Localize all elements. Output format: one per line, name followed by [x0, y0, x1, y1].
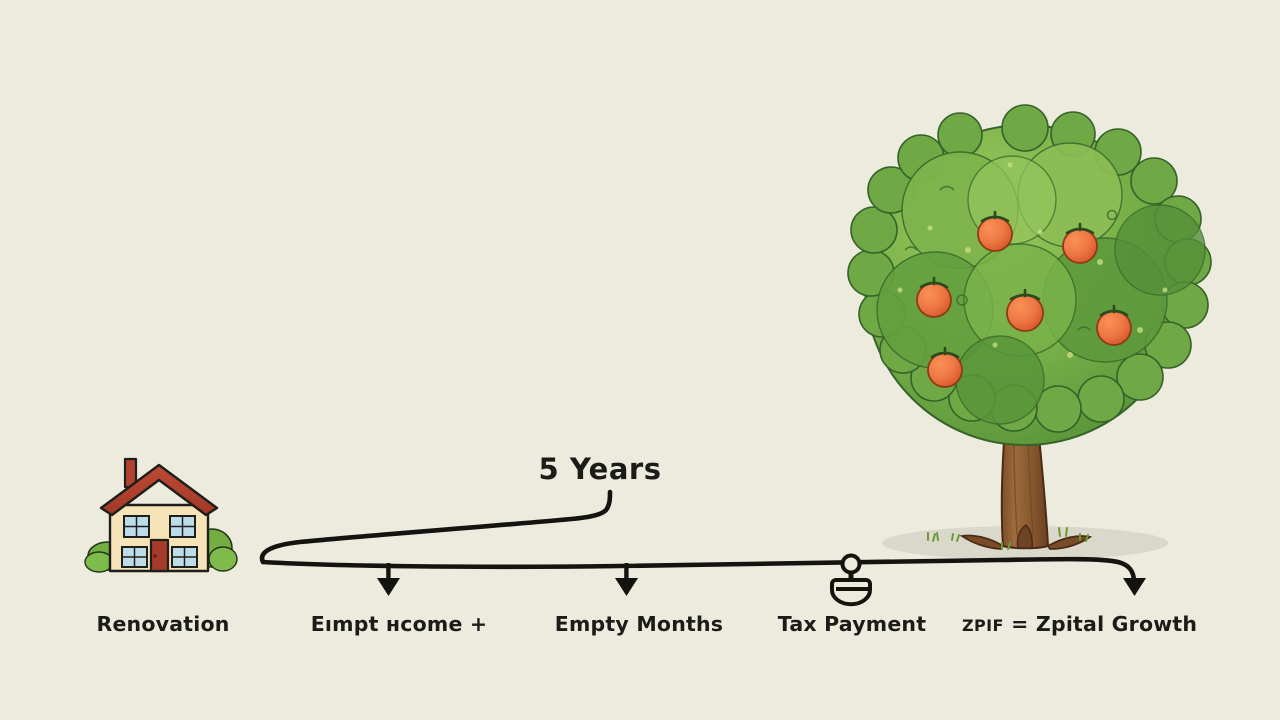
- arrow-end: [1123, 578, 1146, 596]
- tree-canopy: [848, 105, 1211, 445]
- stage-label-tax-payment: Tax Payment: [778, 612, 926, 636]
- house-icon: [85, 459, 237, 572]
- duration-label: 5 Years: [539, 452, 662, 486]
- stage-label-renovation: Renovation: [96, 612, 229, 636]
- stage-label-empty-income: Eımpt ʜcome +: [311, 612, 488, 636]
- stage-label-empty-months: Empty Months: [555, 612, 723, 636]
- result-text: Zpital Growth: [1036, 612, 1197, 636]
- result-label: ZPIF = Zpital Growth: [962, 612, 1197, 636]
- result-abbreviation: ZPIF: [962, 616, 1004, 635]
- fruit-tree-icon: [848, 105, 1211, 560]
- illustration-canvas: 5 Years Renovation Eımpt ʜcome + Empty M…: [0, 0, 1280, 720]
- result-equals: =: [1011, 612, 1028, 636]
